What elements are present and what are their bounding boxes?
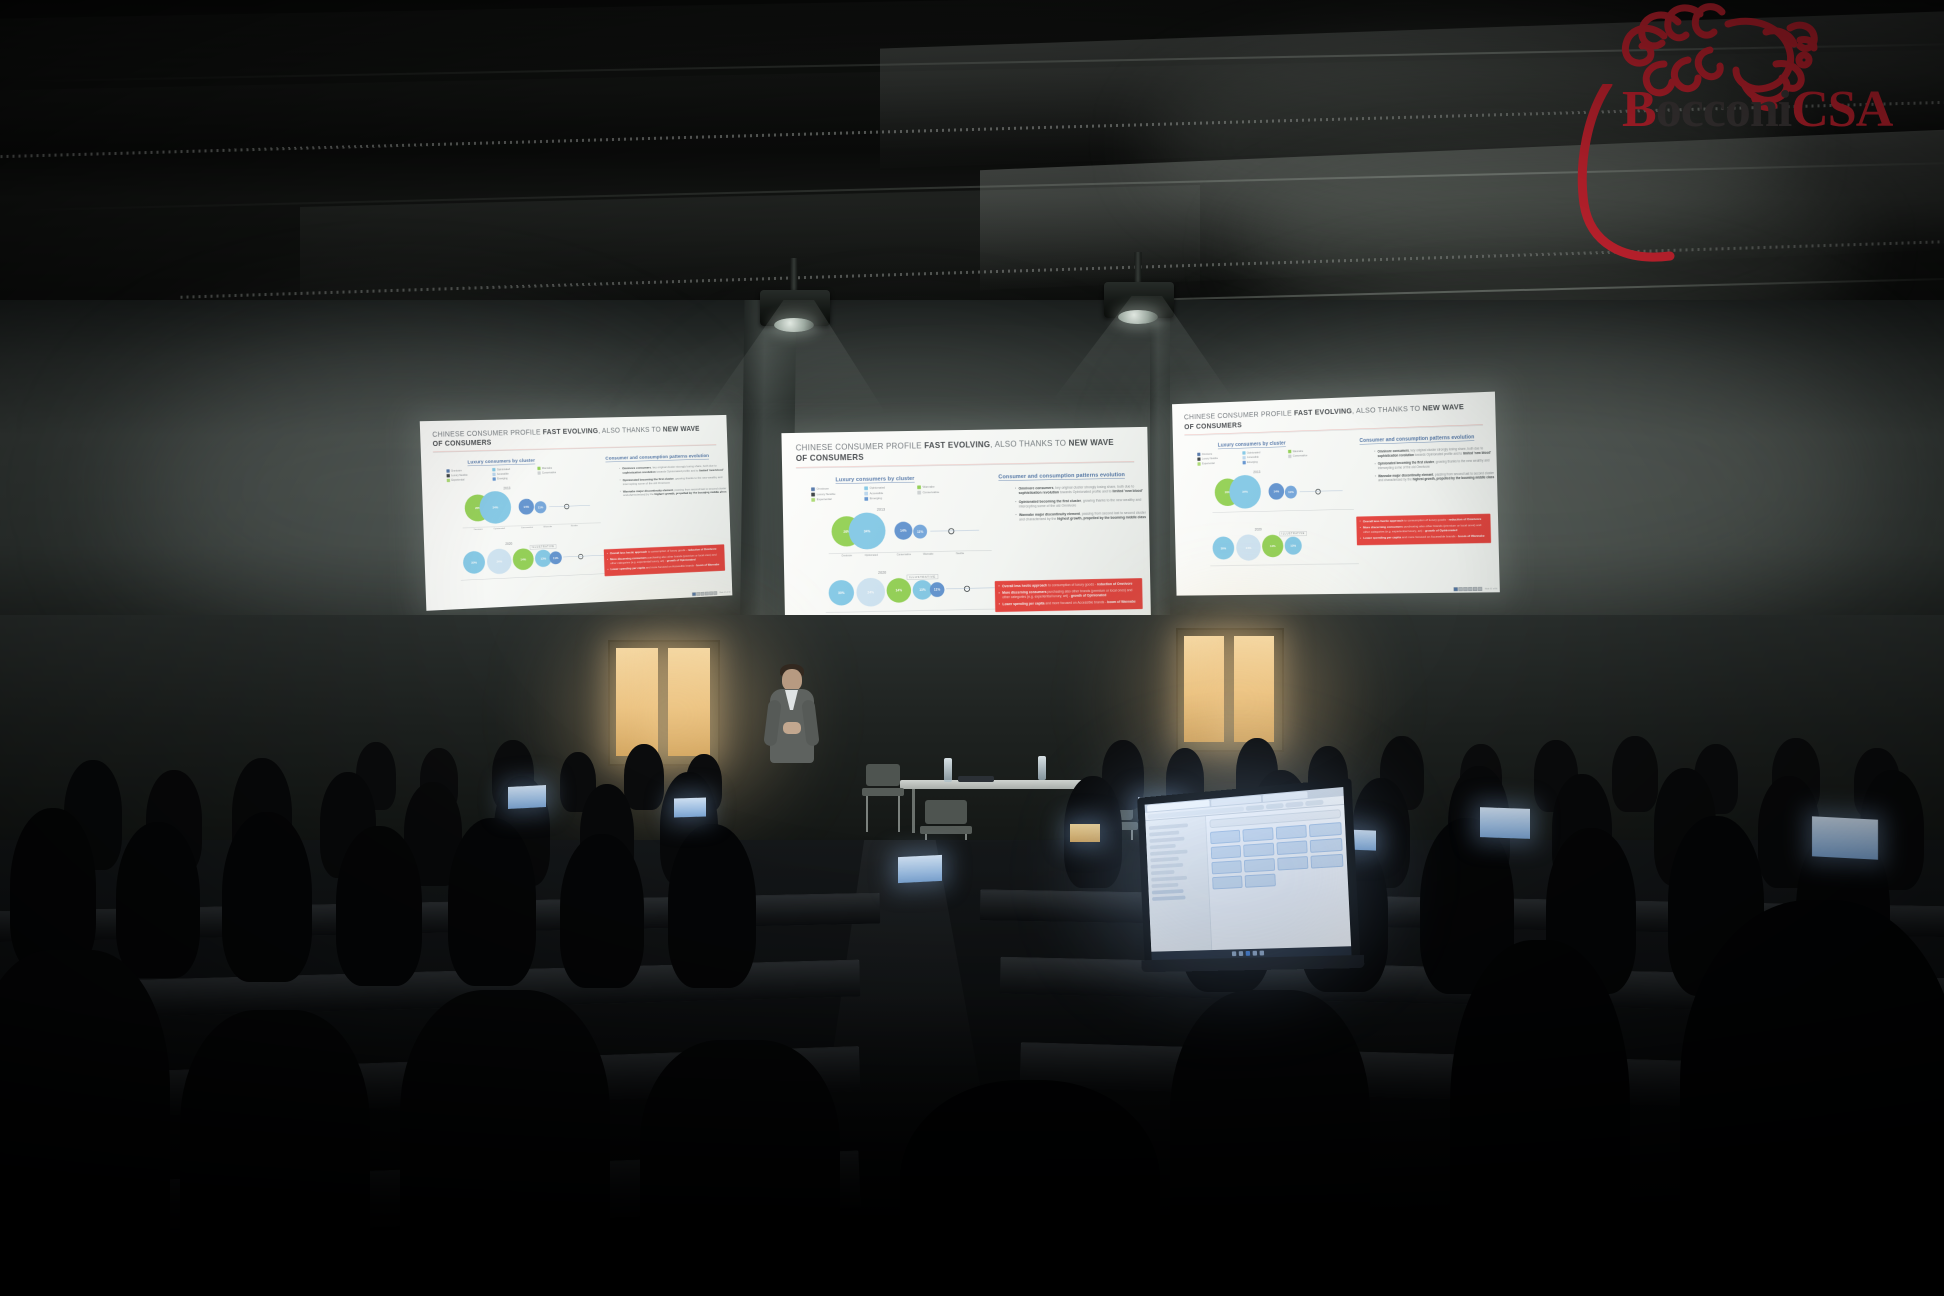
year-label-2020: 2020: [498, 541, 519, 545]
year-label-2020: 2020: [870, 570, 895, 575]
laptop-viewport[interactable]: [1145, 787, 1352, 960]
bullet-list: Omnivore consumers, key original cluster…: [1360, 446, 1497, 487]
foreground-laptop[interactable]: [1137, 778, 1361, 972]
projection-screen-left: CHINESE CONSUMER PROFILE FAST EVOLVING, …: [420, 415, 733, 611]
year-label-2020: 2020: [1248, 527, 1269, 531]
illustrative-tag: ILLUSTRATIVE: [1279, 531, 1307, 536]
audience-member: [448, 818, 536, 986]
chart-heading: Luxury consumers by cluster: [835, 475, 914, 484]
audience-member: [668, 824, 756, 988]
bullet-list: Omnivore consumers, key original cluster…: [999, 484, 1150, 526]
bullets-heading: Consumer and consumption patterns evolut…: [1359, 434, 1474, 445]
chart-heading: Luxury consumers by cluster: [1218, 440, 1286, 449]
slide-right: CHINESE CONSUMER PROFILE FAST EVOLVING, …: [1172, 392, 1500, 596]
powerpoint-statusbar[interactable]: Slide 12 of 34: [1454, 587, 1498, 591]
audience-member: [1450, 940, 1630, 1296]
list-item: Overall less hectic approach to consumpt…: [1360, 516, 1488, 523]
chair: [862, 764, 904, 834]
slide-left: CHINESE CONSUMER PROFILE FAST EVOLVING, …: [420, 415, 733, 611]
chart-legend: Omnivore Opinionated Wannabe Luxury Newb…: [446, 465, 592, 482]
list-item: Opinionated becoming the first cluster, …: [1015, 497, 1149, 509]
key-takeaway-box: Overall less hectic approach to consumpt…: [604, 544, 725, 576]
year-label-2013: 2013: [869, 507, 894, 512]
presenter: [766, 664, 818, 776]
bocconi-csa-logo: BocconiCSA: [1544, 0, 1944, 160]
app-sidebar[interactable]: [1145, 816, 1212, 960]
projection-screen-center: CHINESE CONSUMER PROFILE FAST EVOLVING, …: [781, 427, 1151, 646]
key-takeaway-box: Overall less hectic approach to consumpt…: [1356, 514, 1491, 546]
list-item: Omnivore consumers, key original cluster…: [1015, 484, 1149, 496]
logo-wordmark: BocconiCSA: [1622, 80, 1892, 139]
audience-member: [0, 950, 170, 1296]
audience-member: [222, 812, 312, 982]
presenter-hands: [783, 722, 801, 734]
list-item: More discerning consumers purchasing als…: [999, 588, 1139, 600]
powerpoint-statusbar[interactable]: Slide 12 of 34: [692, 591, 730, 596]
audience-member: [624, 744, 664, 810]
list-item: Lower spending per capita and more focus…: [999, 599, 1139, 606]
list-item: Wannabe major discontinuity element, pas…: [1015, 510, 1149, 522]
laptop-on-table: [958, 776, 994, 782]
year-label-2013: 2013: [1246, 470, 1267, 474]
projection-screen-right: CHINESE CONSUMER PROFILE FAST EVOLVING, …: [1172, 392, 1500, 596]
app-content[interactable]: [1206, 805, 1352, 960]
chart-legend: Omnivore Opinionated Wannabe Luxury Newb…: [811, 484, 982, 501]
list-item: Lower spending per capita and more focus…: [1360, 534, 1488, 541]
list-item: Overall less hectic approach to consumpt…: [998, 581, 1138, 588]
list-item: Opinionated becoming the first cluster, …: [620, 475, 729, 487]
audience-member: [10, 808, 96, 972]
slide-title: CHINESE CONSUMER PROFILE FAST EVOLVING, …: [796, 437, 1130, 464]
list-item: Wannabe major discontinuity element, pas…: [1375, 471, 1497, 483]
water-bottle: [944, 758, 952, 782]
slide-center: CHINESE CONSUMER PROFILE FAST EVOLVING, …: [781, 427, 1151, 646]
year-label-2013: 2013: [496, 486, 517, 490]
list-item: More discerning consumers purchasing als…: [1360, 523, 1488, 534]
list-item: Wannabe major discontinuity element, pas…: [620, 486, 729, 498]
key-takeaway-box: Overall less hectic approach to consumpt…: [995, 578, 1143, 612]
list-item: Omnivore consumers, key original cluster…: [1374, 446, 1496, 459]
audience-member: [400, 990, 610, 1296]
audience-member: [640, 1040, 840, 1296]
bullets-heading: Consumer and consumption patterns evolut…: [998, 471, 1125, 481]
bullets-heading: Consumer and consumption patterns evolut…: [605, 453, 709, 462]
audience-member: [180, 1010, 370, 1296]
audience-member: [1170, 990, 1370, 1296]
chart-legend: Omnivore Opinionated Wannabe Luxury Newb…: [1197, 448, 1345, 466]
audience-member: [1680, 900, 1944, 1296]
audience-member: [560, 834, 644, 988]
lecture-hall-photo: CHINESE CONSUMER PROFILE FAST EVOLVING, …: [0, 0, 1944, 1296]
card-grid[interactable]: [1210, 822, 1344, 889]
audience-member: [900, 1080, 1160, 1296]
list-item: Omnivore consumers, key original cluster…: [619, 464, 728, 475]
audience-member: [116, 822, 200, 978]
illustrative-tag: ILLUSTRATIVE: [907, 574, 939, 580]
list-item: Opinionated becoming the first cluster, …: [1375, 458, 1497, 470]
water-bottle: [1038, 756, 1046, 780]
chart-heading: Luxury consumers by cluster: [467, 458, 535, 466]
bullet-list: Omnivore consumers, key original cluster…: [606, 464, 729, 502]
audience-member: [336, 826, 422, 986]
door-glow: [578, 630, 768, 800]
audience-member: [1612, 736, 1658, 812]
